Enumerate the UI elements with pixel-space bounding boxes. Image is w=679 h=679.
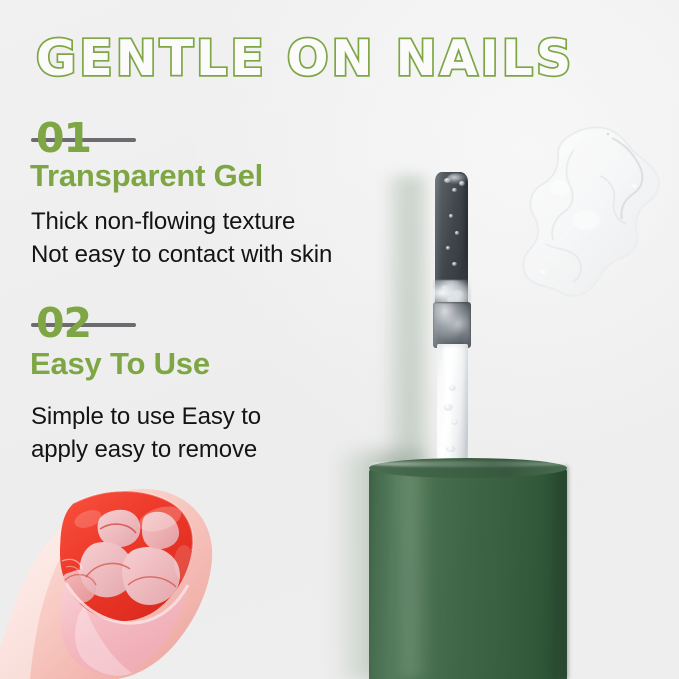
feature-body-line: Not easy to contact with skin <box>31 238 332 271</box>
bottle-rim-highlight <box>371 461 565 467</box>
feature-body-line: Simple to use Easy to <box>31 400 261 433</box>
feature-heading-02: Easy To Use <box>30 346 210 382</box>
bottle-edge-shade <box>546 466 568 679</box>
product-infographic-poster: GENTLE ON NAILS 01 Transparent Gel Thick… <box>0 0 679 679</box>
feature-number-01: 01 <box>31 117 331 161</box>
gel-speck <box>444 178 451 183</box>
gel-speck <box>452 262 457 266</box>
gel-speck <box>446 246 450 250</box>
brush-shadow <box>382 176 426 466</box>
gel-speck <box>452 188 457 192</box>
feature-number-label-01: 01 <box>36 114 91 162</box>
gel-speck <box>459 181 465 186</box>
bottle-sheen <box>392 470 432 679</box>
transparent-gel-texture-swatch <box>516 124 672 314</box>
handle-bubble <box>452 420 458 425</box>
feature-heading-01: Transparent Gel <box>30 158 263 194</box>
handle-bubble <box>444 404 453 411</box>
fingertip-with-peeling-red-polish <box>0 485 240 679</box>
handle-bubble <box>446 446 456 452</box>
feature-body-02: Simple to use Easy to apply easy to remo… <box>31 400 261 466</box>
feature-number-02: 02 <box>31 302 331 346</box>
gel-speck <box>449 214 453 218</box>
feature-body-01: Thick non-flowing texture Not easy to co… <box>31 205 332 271</box>
handle-bubble <box>449 385 456 391</box>
brush-handle <box>437 344 468 475</box>
feature-number-label-02: 02 <box>36 299 91 347</box>
brush-ferrule-gel <box>434 303 470 343</box>
feature-body-line: apply easy to remove <box>31 433 261 466</box>
page-title: GENTLE ON NAILS <box>36 30 636 88</box>
feature-body-line: Thick non-flowing texture <box>31 205 332 238</box>
gel-speck <box>455 231 459 235</box>
